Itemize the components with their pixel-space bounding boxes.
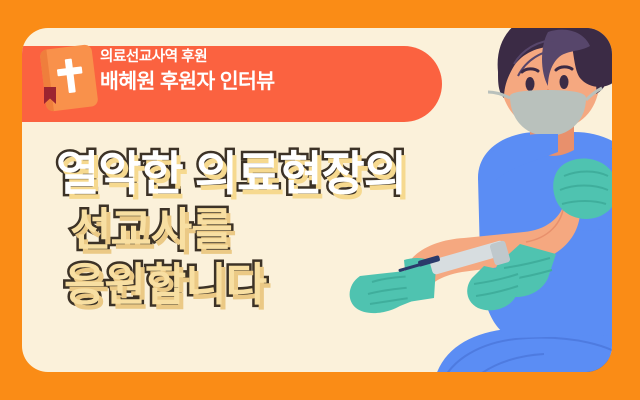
face-mask-icon <box>510 90 586 136</box>
poster-root: 의료선교사역 후원 배혜원 후원자 인터뷰 열악한 의료현장의 선교사를 응원합… <box>0 0 640 400</box>
illustration-nurse-injection <box>312 28 612 372</box>
patient-gloved-hand <box>350 258 436 313</box>
content-card: 의료선교사역 후원 배혜원 후원자 인터뷰 열악한 의료현장의 선교사를 응원합… <box>22 28 612 372</box>
bible-icon <box>39 44 98 112</box>
nurse-head <box>488 28 612 136</box>
